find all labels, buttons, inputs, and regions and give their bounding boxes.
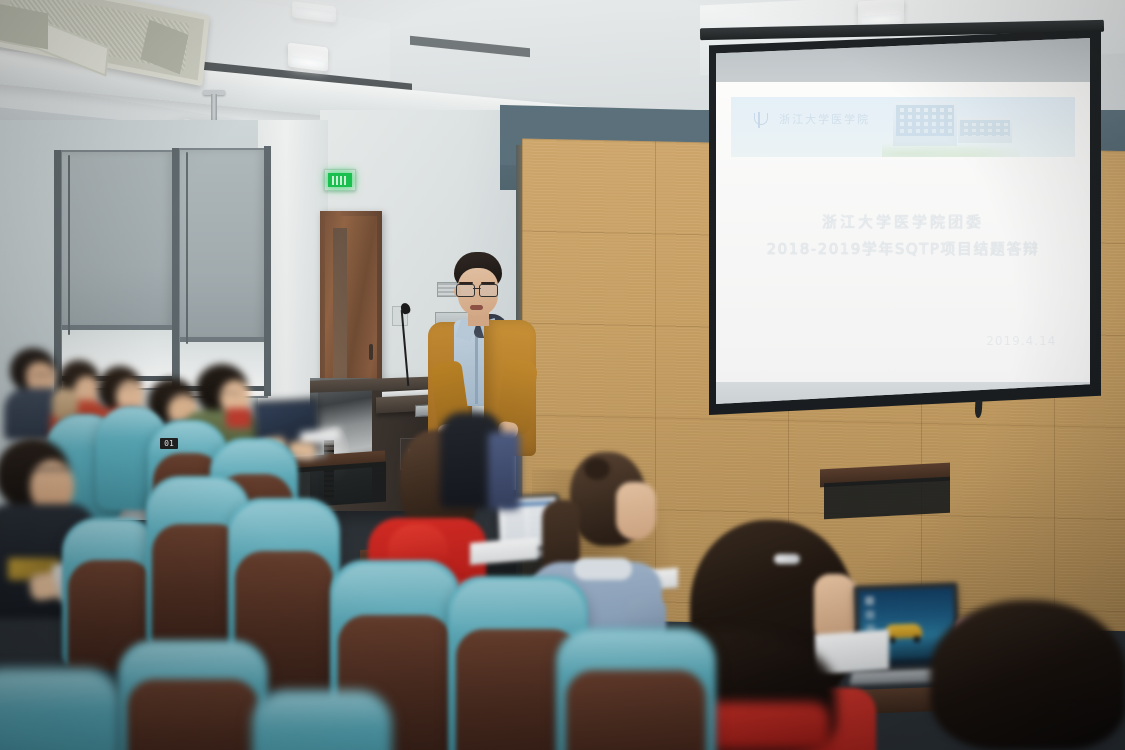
eyeglasses-icon-audience-3 (112, 386, 138, 393)
hair-bun (584, 458, 610, 480)
desk-rail-mid-right (824, 477, 950, 520)
ceiling-spotlight-icon (288, 43, 328, 72)
hair-clip-icon (774, 554, 800, 564)
university-logo-icon (752, 113, 768, 131)
seat-number-label: 01 (160, 438, 178, 449)
eyeglasses-icon-audience-6 (28, 468, 74, 480)
hoodie-hood (388, 524, 448, 564)
lens-left (456, 284, 475, 297)
presenter-mouth (470, 305, 483, 310)
chair-front-5[interactable] (0, 668, 120, 750)
eyeglasses-icon-audience-5 (212, 392, 242, 400)
window-blind-right[interactable] (180, 150, 264, 342)
chair-wood-frame (566, 670, 707, 750)
banner-trees (882, 141, 1020, 157)
lens-right (479, 284, 498, 297)
chair-rim (121, 643, 265, 685)
eyeglasses-icon (456, 284, 498, 295)
car-wheel-right (913, 636, 920, 643)
face-profile (616, 482, 656, 540)
projection-screen[interactable]: 浙江大学医学院 浙江大学医学院团委 2018-2019学年SQTP项目结题答辩 … (716, 38, 1090, 404)
hair (930, 600, 1125, 750)
bag (488, 432, 520, 510)
blind-cord-left[interactable] (68, 155, 70, 335)
logo-staff-shape (758, 112, 760, 128)
window-blind-left[interactable] (62, 152, 172, 330)
audience-person-standing (440, 412, 514, 524)
chair-front-4[interactable] (118, 640, 268, 750)
logo-cup-shape (754, 113, 768, 125)
exit-running-man-glyph (332, 176, 348, 185)
chair-rim (559, 631, 713, 676)
banner-building-windows-2 (960, 120, 1010, 136)
chair-front-6[interactable] (252, 690, 392, 750)
banner-building-secondary (958, 117, 1012, 142)
window-divider-right (264, 146, 271, 396)
slide-date: 2019.4.14 (986, 334, 1056, 348)
desktop-icon-2[interactable] (865, 610, 874, 619)
door-handle[interactable] (369, 344, 373, 360)
slide-title-line-2: 2018-2019学年SQTP项目结题答辩 (716, 238, 1090, 259)
lecture-hall-photo: 浙江大学医学院 浙江大学医学院团委 2018-2019学年SQTP项目结题答辩 … (0, 0, 1125, 750)
university-logo-text: 浙江大学医学院 (779, 111, 870, 127)
car-wheel-left (889, 637, 896, 644)
chair-rim (64, 521, 158, 566)
chair-wood-frame (127, 679, 259, 750)
chair-rim (255, 692, 389, 728)
chair-front-3[interactable] (556, 628, 716, 750)
chair-rim (0, 671, 117, 710)
banner-building-main (893, 101, 957, 147)
chair-rim (230, 502, 338, 559)
desktop-icon-1[interactable] (865, 596, 874, 605)
banner-building-windows (896, 105, 954, 137)
exit-sign-panel (328, 173, 352, 187)
blind-cord-right[interactable] (186, 152, 188, 344)
slide-banner-image: 浙江大学医学院 (731, 97, 1075, 157)
slide-title-line-1: 浙江大学医学院团委 (716, 211, 1090, 232)
door-glass-strip (333, 228, 347, 378)
chair-rim (333, 564, 458, 623)
emergency-exit-sign-icon (324, 169, 356, 191)
lanyard (226, 408, 252, 428)
blind-bottom-bar-2 (180, 337, 264, 342)
presentation-slide: 浙江大学医学院 浙江大学医学院团委 2018-2019学年SQTP项目结题答辩 … (716, 82, 1090, 382)
blind-bottom-bar (62, 325, 172, 330)
presenter-shirt-placket (475, 334, 478, 404)
audience-person-foreground-right (930, 600, 1125, 750)
window-divider (172, 148, 179, 398)
